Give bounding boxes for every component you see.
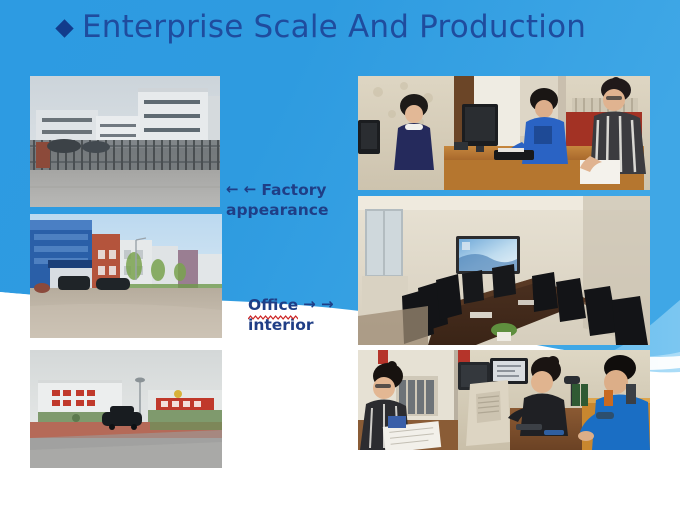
photo-office-work: [358, 350, 650, 450]
callout-office-interior: Office → → interior: [248, 296, 348, 336]
page-title: Enterprise Scale And Production: [82, 12, 586, 43]
callout-factory-line1: Factory: [261, 181, 326, 201]
callout-office-line1: Office: [248, 296, 298, 314]
photo-meeting-room: [358, 196, 650, 345]
callout-factory-appearance: ← ← Factory appearance: [226, 181, 330, 221]
arrow-left-icon: ← ←: [226, 182, 256, 197]
photo-factory-front: [30, 350, 222, 468]
slide-title: Enterprise Scale And Production: [58, 4, 586, 50]
callout-factory-line2: appearance: [226, 201, 328, 221]
photo-factory-gate: [30, 76, 220, 207]
photo-office-desks: [358, 76, 650, 190]
photo-factory-street: [30, 214, 222, 338]
spellcheck-squiggle-icon: [248, 315, 298, 320]
arrow-right-icon: → →: [303, 297, 333, 312]
presentation-slide: Enterprise Scale And Production: [0, 0, 680, 518]
diamond-bullet-icon: [55, 19, 73, 37]
